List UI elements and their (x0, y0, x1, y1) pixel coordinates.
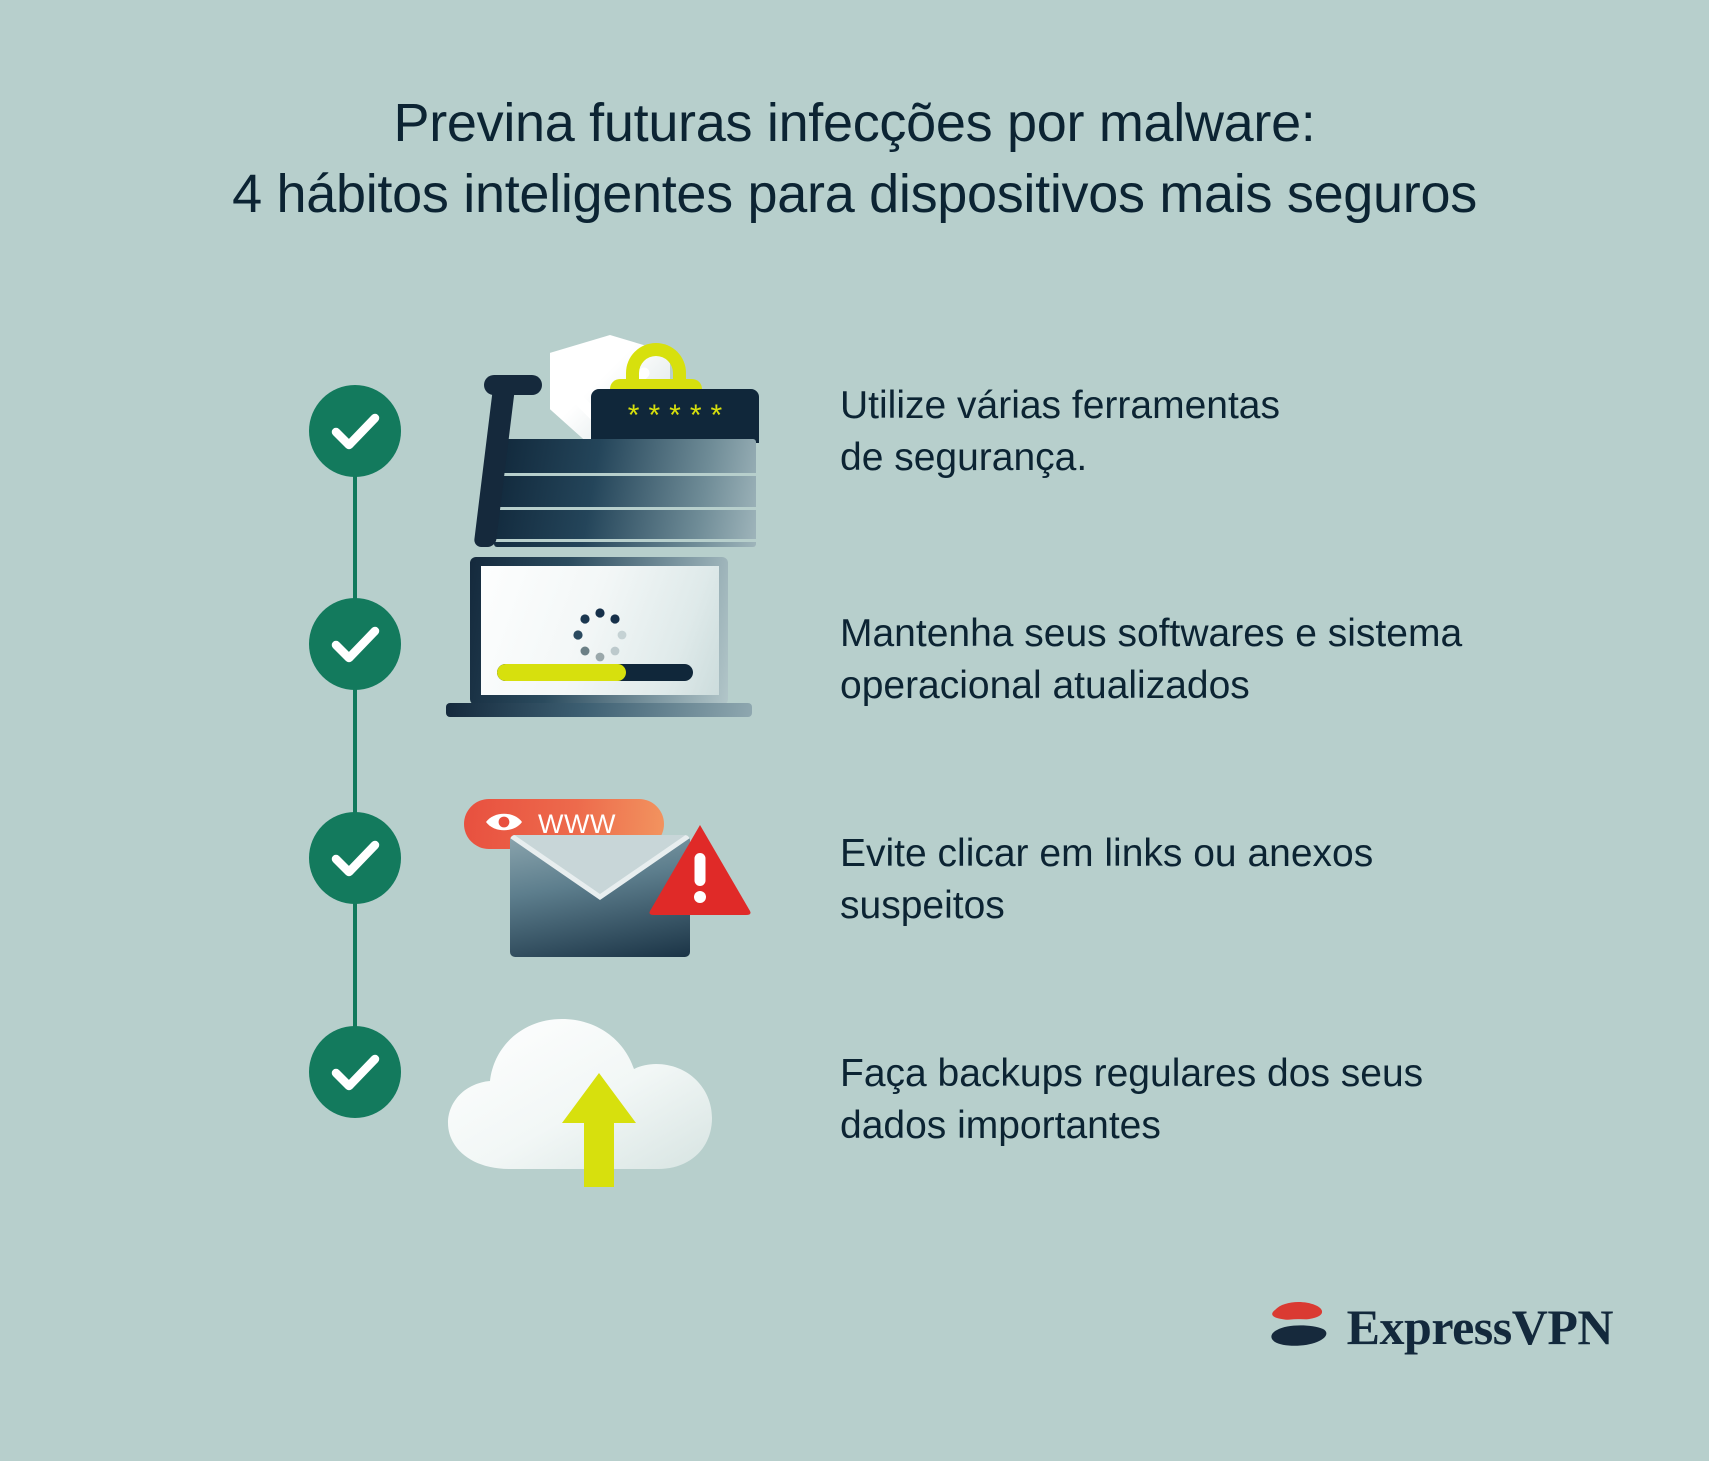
check-icon (309, 385, 401, 477)
progress-bar-fill (497, 664, 626, 681)
title-line-2: 4 hábitos inteligentes para dispositivos… (0, 159, 1709, 230)
step-row-2: Mantenha seus softwares e sistema operac… (440, 545, 1620, 775)
password-mask-char: * (690, 401, 702, 431)
password-mask-char: * (711, 401, 723, 431)
expressvpn-logo-mark (1269, 1296, 1331, 1357)
step-text-1: Utilize várias ferramentas de segurança. (770, 380, 1280, 484)
step-check-node-4 (309, 1026, 401, 1118)
check-icon (309, 598, 401, 690)
timeline-rail (353, 470, 357, 1090)
password-mask-char: * (648, 401, 660, 431)
step-check-node-2 (309, 598, 401, 690)
warning-triangle-icon (646, 821, 754, 917)
step-check-node-1 (309, 385, 401, 477)
expressvpn-logo[interactable]: ExpressVPN (1269, 1296, 1613, 1357)
check-icon (309, 1026, 401, 1118)
step-check-node-3 (309, 812, 401, 904)
password-mask-char: * (669, 401, 681, 431)
toolbox-handle-top (484, 375, 542, 395)
expressvpn-logo-text: ExpressVPN (1347, 1298, 1613, 1356)
check-icon (309, 812, 401, 904)
step-row-4: Faça backups regulares dos seus dados im… (440, 985, 1620, 1215)
step-row-1: * * * * * Utilize várias ferramentas de … (440, 317, 1620, 547)
upload-arrow-icon (560, 1067, 638, 1189)
progress-bar (497, 664, 693, 681)
title-line-1: Previna futuras infecções por malware: (0, 88, 1709, 159)
infographic-canvas: Previna futuras infecções por malware: 4… (0, 0, 1709, 1461)
step-text-3: Evite clicar em links ou anexos suspeito… (770, 828, 1373, 932)
password-field: * * * * * (591, 389, 759, 443)
loading-spinner-icon (569, 604, 631, 671)
step-row-3: WWW (440, 765, 1620, 995)
step-text-2: Mantenha seus softwares e sistema operac… (770, 608, 1462, 712)
suspicious-email-icon: WWW (440, 765, 770, 995)
toolbox-body (494, 439, 756, 547)
page-title: Previna futuras infecções por malware: 4… (0, 88, 1709, 231)
laptop-frame (470, 557, 728, 705)
laptop-screen (481, 566, 719, 695)
cloud-backup-icon (440, 985, 770, 1215)
password-mask-char: * (628, 401, 640, 431)
step-text-4: Faça backups regulares dos seus dados im… (770, 1048, 1423, 1152)
laptop-update-icon (440, 545, 770, 775)
laptop-base (446, 703, 752, 717)
toolbox-security-icon: * * * * * (440, 317, 770, 547)
